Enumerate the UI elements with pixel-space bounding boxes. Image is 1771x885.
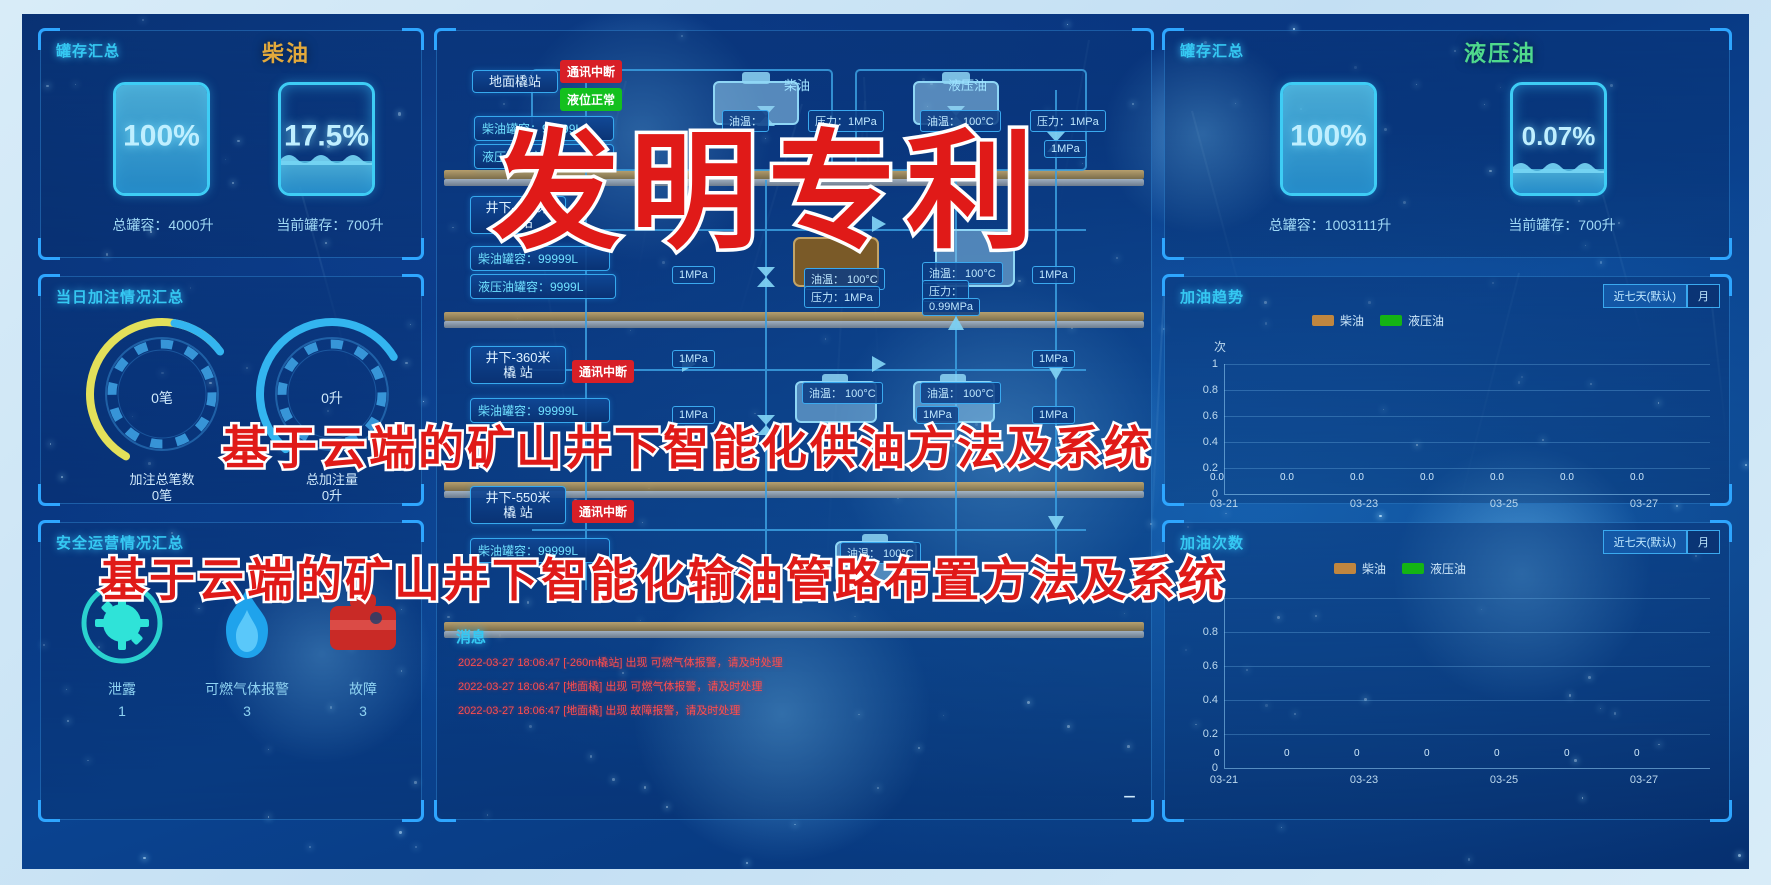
count-range-week[interactable]: 近七天(默认) <box>1603 530 1687 554</box>
right-current-tank-gauge: 0.07% <box>1510 82 1607 196</box>
trend-legend-hydraulic: 液压油 <box>1380 312 1444 329</box>
count-legend-diesel: 柴油 <box>1334 560 1386 577</box>
legend-swatch-hydraulic <box>1380 315 1402 326</box>
station-360m-name-line1: 井下-360米 <box>485 350 550 365</box>
trend-point-label-3: 0.0 <box>1350 472 1364 483</box>
refuel-volume-sublabel: 0升 <box>272 488 392 504</box>
right-trend-panel: 加油趋势 近七天(默认) 月 柴油 液压油 次 1 0.8 0.6 0.4 0.… <box>1164 276 1730 504</box>
right-tank-panel: 罐存汇总 液压油 100% 总罐容：1003111升 0.07% 当前罐存：70… <box>1164 30 1730 258</box>
count-xtick-3: 03-25 <box>1482 774 1526 786</box>
count-point-label-3: 0 <box>1354 748 1360 759</box>
refuel-count-value: 0笔 <box>82 388 242 408</box>
station-360m-name-line2: 橇 站 <box>503 365 533 380</box>
refuel-count-label: 加注总笔数 <box>102 472 222 488</box>
message-row-3: 2022-03-27 18:06:47 [地面橇] 出现 故障报警，请及时处理 <box>458 702 740 718</box>
count-point-label-7: 0 <box>1634 748 1640 759</box>
dashboard-root: 罐存汇总 柴油 100% 总罐容：4000升 17.5% 当前罐存：700升 当… <box>0 0 1771 885</box>
meter-oil-temp-5: 油温： 100°C <box>802 382 883 404</box>
left-current-tank-percent: 17.5% <box>281 119 372 153</box>
count-xtick-4: 03-27 <box>1622 774 1666 786</box>
count-legend: 柴油 液压油 <box>1334 560 1466 577</box>
station-360m-label[interactable]: 井下-360米 橇 站 <box>470 346 566 384</box>
station-550m-badge-comm: 通讯中断 <box>572 500 634 523</box>
legend-label-diesel: 柴油 <box>1340 312 1364 329</box>
trend-point-label-1: 0.0 <box>1210 472 1224 483</box>
trend-point-label-7: 0.0 <box>1630 472 1644 483</box>
left-current-tank-fill <box>281 161 372 193</box>
left-tank-panel: 罐存汇总 柴油 100% 总罐容：4000升 17.5% 当前罐存：700升 <box>40 30 422 258</box>
meter-pressure-4-value: 0.99MPa <box>922 298 980 316</box>
zoom-out-button[interactable]: − <box>1123 784 1136 810</box>
count-gridline-4 <box>1224 700 1710 701</box>
right-product-label: 液压油 <box>1464 36 1536 68</box>
count-x-axis <box>1224 768 1710 769</box>
refuel-count-gauge: 0笔 <box>82 314 242 474</box>
count-point-label-5: 0 <box>1494 748 1500 759</box>
count-point-label-2: 0 <box>1284 748 1290 759</box>
legend-label-diesel-2: 柴油 <box>1362 560 1386 577</box>
left-refuel-panel-title: 当日加注情况汇总 <box>56 286 184 307</box>
trend-xtick-4: 03-27 <box>1622 498 1666 510</box>
count-gridline-1 <box>1224 598 1710 599</box>
trend-gridline-2 <box>1224 390 1710 391</box>
count-range-selector[interactable]: 近七天(默认) 月 <box>1603 530 1720 554</box>
count-ytick-04: 0.4 <box>1190 694 1218 706</box>
refuel-count-sublabel: 0笔 <box>102 488 222 504</box>
meter-oil-temp-6: 油温： 100°C <box>920 382 1001 404</box>
trend-xtick-3: 03-25 <box>1482 498 1526 510</box>
station-360m-badge-comm: 通讯中断 <box>572 360 634 383</box>
station-200m-hydraulic-cap: 液压油罐容：9999L <box>470 274 616 299</box>
mpa-tag-2: 1MPa <box>1044 140 1087 158</box>
left-current-tank-gauge: 17.5% <box>278 82 375 196</box>
trend-point-label-4: 0.0 <box>1420 472 1434 483</box>
messages-title: 消息 <box>456 626 486 647</box>
meter-pressure-3: 压力：1MPa <box>804 286 880 308</box>
trend-x-axis <box>1224 494 1710 495</box>
right-tank-panel-title: 罐存汇总 <box>1180 40 1244 61</box>
left-total-tank-gauge: 100% <box>113 82 210 196</box>
trend-xtick-1: 03-21 <box>1202 498 1246 510</box>
trend-range-month[interactable]: 月 <box>1687 284 1720 308</box>
count-y-axis <box>1224 598 1225 768</box>
trend-gridline-1 <box>1224 364 1710 365</box>
refuel-volume-value: 0升 <box>252 388 412 408</box>
trend-point-label-2: 0.0 <box>1280 472 1294 483</box>
right-total-tank-caption: 总罐容：1003111升 <box>1216 215 1444 235</box>
trend-ytick-04: 0.4 <box>1190 436 1218 448</box>
trend-ytick-08: 0.8 <box>1190 384 1218 396</box>
count-xtick-2: 03-23 <box>1342 774 1386 786</box>
station-550m-label[interactable]: 井下-550米 橇 站 <box>470 486 566 524</box>
watermark-line-1: 基于云端的矿山井下智能化供油方法及系统 <box>222 412 1153 478</box>
count-ytick-02: 0.2 <box>1190 728 1218 740</box>
trend-range-week[interactable]: 近七天(默认) <box>1603 284 1687 308</box>
screen: 罐存汇总 柴油 100% 总罐容：4000升 17.5% 当前罐存：700升 当… <box>22 14 1749 869</box>
count-legend-hydraulic: 液压油 <box>1402 560 1466 577</box>
safety-fault-label: 故障 <box>308 679 418 699</box>
trend-gridline-3 <box>1224 416 1710 417</box>
count-point-label-1: 0 <box>1214 748 1220 759</box>
trend-range-selector[interactable]: 近七天(默认) 月 <box>1603 284 1720 308</box>
safety-gas-value: 3 <box>182 703 312 719</box>
mpa-tag-5: 1MPa <box>1032 350 1075 368</box>
trend-legend: 柴油 液压油 <box>1312 312 1444 329</box>
left-current-tank-caption: 当前罐存：700升 <box>240 215 420 235</box>
safety-gas-label: 可燃气体报警 <box>182 679 312 699</box>
count-ytick-06: 0.6 <box>1190 660 1218 672</box>
count-xtick-1: 03-21 <box>1202 774 1246 786</box>
message-row-2: 2022-03-27 18:06:47 [地面橇] 出现 可燃气体报警，请及时处… <box>458 678 762 694</box>
watermark-line-2: 基于云端的矿山井下智能化输油管路布置方法及系统 <box>100 544 1227 610</box>
wave-icon <box>1513 159 1607 173</box>
legend-label-hydraulic: 液压油 <box>1408 312 1444 329</box>
trend-point-label-6: 0.0 <box>1560 472 1574 483</box>
count-point-label-4: 0 <box>1424 748 1430 759</box>
count-gridline-3 <box>1224 666 1710 667</box>
legend-swatch-hydraulic-2 <box>1402 563 1424 574</box>
trend-ytick-06: 0.6 <box>1190 410 1218 422</box>
safety-leak-label: 泄露 <box>62 679 182 699</box>
station-550m-name-line2: 橇 站 <box>503 505 533 520</box>
trend-point-label-5: 0.0 <box>1490 472 1504 483</box>
count-gridline-5 <box>1224 734 1710 735</box>
count-ytick-0: 0 <box>1190 762 1218 774</box>
trend-legend-diesel: 柴油 <box>1312 312 1364 329</box>
count-gridline-2 <box>1224 632 1710 633</box>
count-point-label-6: 0 <box>1564 748 1570 759</box>
right-count-panel: 加油次数 近七天(默认) 月 柴油 液压油 1 0.8 0.6 0.4 0.2 … <box>1164 522 1730 820</box>
safety-fault-value: 3 <box>308 703 418 719</box>
legend-swatch-diesel-2 <box>1334 563 1356 574</box>
right-current-tank-fill <box>1513 169 1604 193</box>
trend-y-axis <box>1224 364 1225 494</box>
left-product-label: 柴油 <box>262 36 310 68</box>
legend-swatch-diesel <box>1312 315 1334 326</box>
left-tank-panel-title: 罐存汇总 <box>56 40 120 61</box>
right-current-tank-percent: 0.07% <box>1513 121 1604 152</box>
trend-xtick-2: 03-23 <box>1342 498 1386 510</box>
trend-gridline-4 <box>1224 442 1710 443</box>
legend-label-hydraulic-2: 液压油 <box>1430 560 1466 577</box>
station-ground-badge-comm: 通讯中断 <box>560 60 622 83</box>
right-total-tank-percent: 100% <box>1283 119 1374 153</box>
right-total-tank-gauge: 100% <box>1280 82 1377 196</box>
watermark-title: 发明专利 <box>492 88 1044 273</box>
trend-panel-title: 加油趋势 <box>1180 286 1244 307</box>
trend-ytick-1: 1 <box>1190 358 1218 370</box>
count-ytick-08: 0.8 <box>1190 626 1218 638</box>
left-total-tank-caption: 总罐容：4000升 <box>78 215 248 235</box>
left-total-tank-percent: 100% <box>116 119 207 153</box>
station-550m-name-line1: 井下-550米 <box>485 490 550 505</box>
safety-leak-value: 1 <box>62 703 182 719</box>
trend-y-unit: 次 <box>1214 338 1226 355</box>
right-current-tank-caption: 当前罐存：700升 <box>1472 215 1652 235</box>
mpa-tag-4: 1MPa <box>672 350 715 368</box>
message-row-1: 2022-03-27 18:06:47 [-260m橇站] 出现 可燃气体报警，… <box>458 654 783 670</box>
count-range-month[interactable]: 月 <box>1687 530 1720 554</box>
trend-gridline-5 <box>1224 468 1710 469</box>
